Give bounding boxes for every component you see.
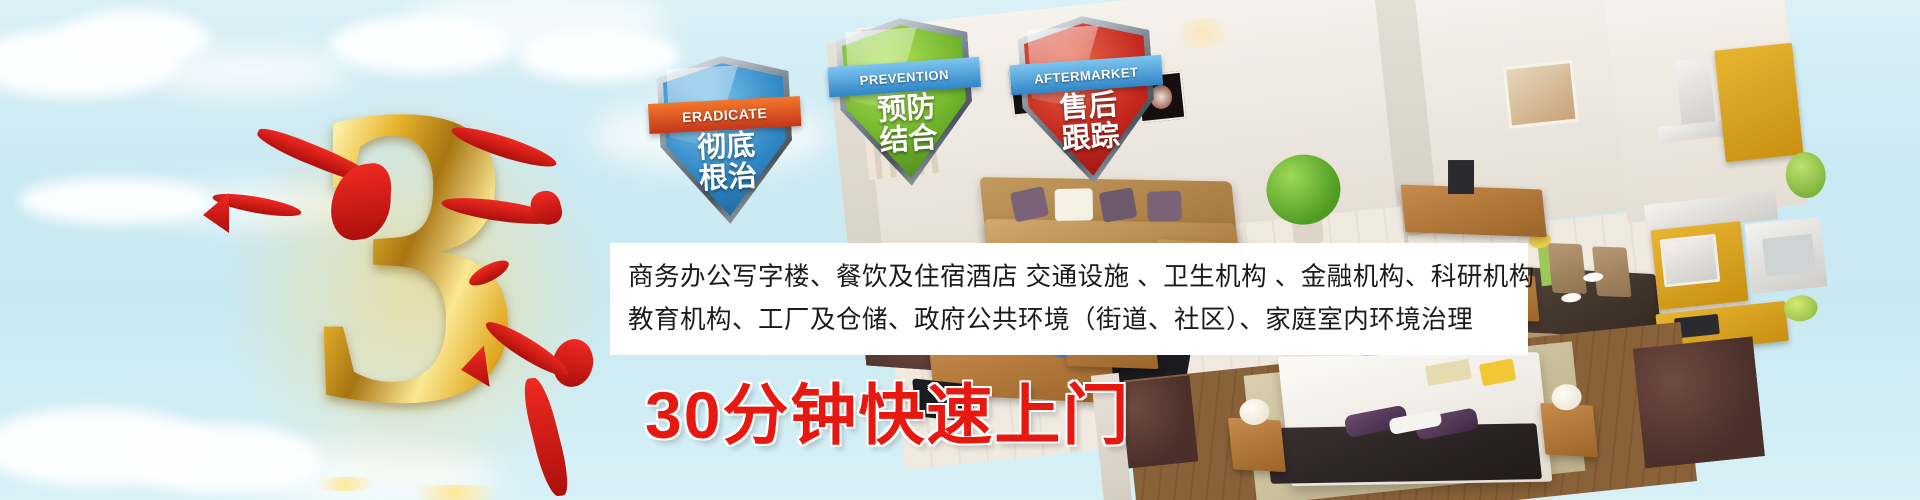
promo-headline: 30分钟快速上门 — [645, 362, 1130, 458]
framed-portrait — [1503, 60, 1579, 129]
badge-banner-text: AFTERMARKET — [1034, 64, 1139, 86]
tv-unit — [1448, 160, 1474, 194]
cushion — [1147, 191, 1182, 222]
badge-banner-text: ERADICATE — [682, 105, 768, 125]
marble-wall-panel — [1633, 336, 1765, 468]
built-in-oven — [1660, 234, 1721, 288]
badge-chinese-text: 售后 跟踪 — [1022, 87, 1158, 159]
badge-prevention: PREVENTION 预防 结合 — [834, 14, 977, 191]
golden-numeral-group: 3 — [235, 95, 595, 495]
dining-chair — [1547, 243, 1587, 294]
cushion — [1055, 188, 1094, 221]
badge-chinese-line2: 根治 — [661, 160, 794, 198]
sparkle — [305, 477, 385, 491]
badge-aftermarket: AFTERMARKET 售后 跟踪 — [1016, 12, 1159, 189]
range-hood — [1675, 57, 1716, 130]
nightstand — [1228, 418, 1286, 472]
upper-cabinet — [1714, 43, 1803, 163]
service-scope-line-1: 商务办公写字楼、餐饮及住宿酒店 交通设施 、卫生机构 、金融机构、科研机构 — [628, 256, 1510, 299]
badge-eradicate: ERADICATE 彻底 根治 — [656, 53, 797, 228]
badge-chinese-text: 彻底 根治 — [660, 129, 795, 198]
sparkle — [395, 485, 515, 500]
badge-banner-text: PREVENTION — [859, 66, 949, 87]
nightstand — [1540, 403, 1598, 457]
service-scope-panel: 商务办公写字楼、餐饮及住宿酒店 交通设施 、卫生机构 、金融机构、科研机构 教育… — [610, 243, 1528, 355]
service-scope-line-2: 教育机构、工厂及仓储、政府公共环境（街道、社区）、家庭室内环境治理 — [628, 299, 1510, 342]
badge-chinese-text: 预防 结合 — [840, 89, 976, 161]
sink-basin — [1762, 234, 1816, 277]
promo-banner: 3 ERADICATE 彻底 根治 PREVENTIO — [0, 0, 1920, 500]
kitchen-plant — [1782, 294, 1819, 323]
cushion — [1099, 187, 1138, 222]
